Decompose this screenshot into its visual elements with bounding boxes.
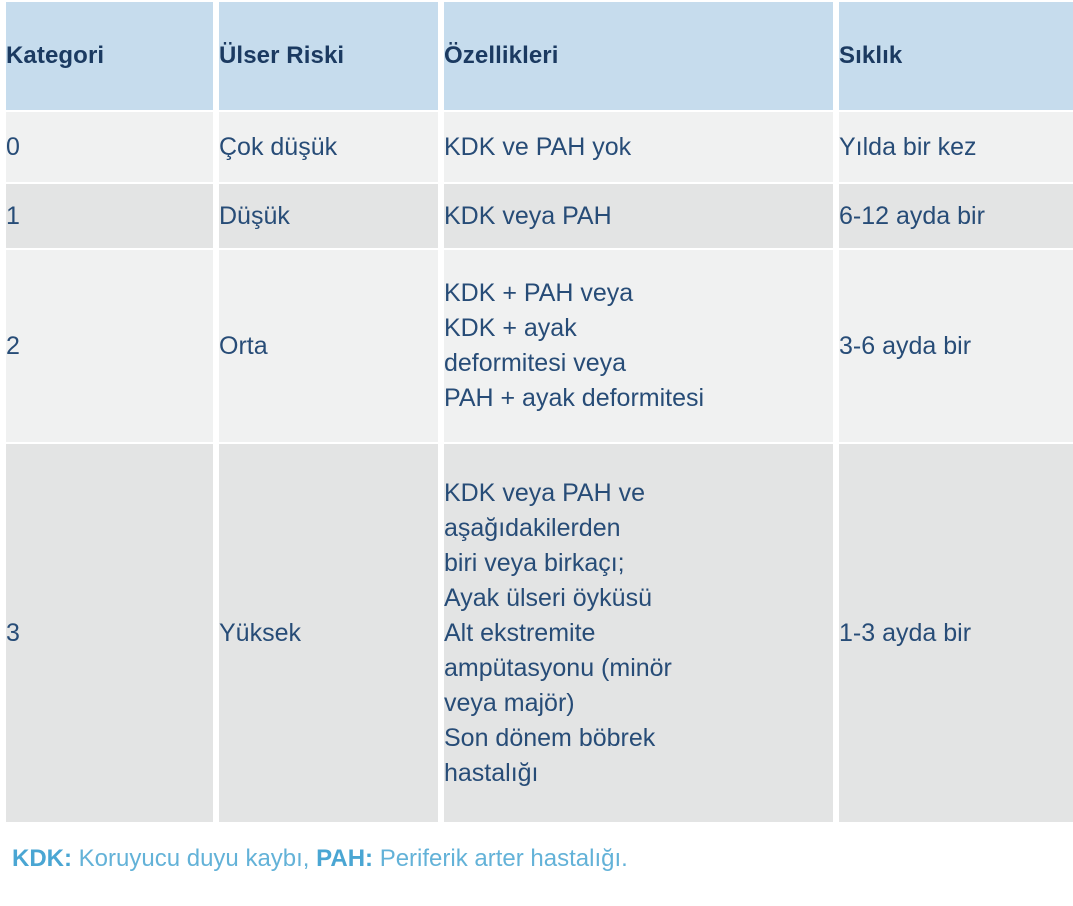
cell-text: 2: [6, 329, 213, 364]
table-row: 2 Orta KDK + PAH veya KDK + ayak deformi…: [6, 250, 1073, 442]
cell-text: Orta: [219, 329, 438, 364]
table-header-row: Kategori Ülser Riski Özellikleri Sıklık: [6, 2, 1073, 110]
table-row: 0 Çok düşük KDK ve PAH yok Yılda bir kez: [6, 112, 1073, 182]
cell-ozellikleri: KDK veya PAH: [444, 184, 833, 248]
cell-text: Yüksek: [219, 616, 438, 651]
cell-text: 3-6 ayda bir: [839, 329, 1073, 364]
cell-text: Yılda bir kez: [839, 130, 1073, 165]
cell-siklik: 1-3 ayda bir: [839, 444, 1073, 822]
cell-siklik: 3-6 ayda bir: [839, 250, 1073, 442]
cell-ulser-riski: Düşük: [219, 184, 438, 248]
cell-ozellikleri: KDK ve PAH yok: [444, 112, 833, 182]
cell-text: KDK ve PAH yok: [444, 130, 833, 165]
cell-kategori: 3: [6, 444, 213, 822]
column-header-ulser-riski: Ülser Riski: [219, 2, 438, 110]
cell-ozellikleri: KDK + PAH veya KDK + ayak deformitesi ve…: [444, 250, 833, 442]
cell-text: 3: [6, 616, 213, 651]
column-header-siklik: Sıklık: [839, 2, 1073, 110]
cell-text: 1: [6, 199, 213, 234]
cell-text: KDK + PAH veya KDK + ayak deformitesi ve…: [444, 276, 833, 416]
cell-ulser-riski: Yüksek: [219, 444, 438, 822]
cell-kategori: 0: [6, 112, 213, 182]
legend-text-pah: Periferik arter hastalığı.: [373, 845, 628, 872]
cell-ulser-riski: Çok düşük: [219, 112, 438, 182]
cell-siklik: Yılda bir kez: [839, 112, 1073, 182]
cell-kategori: 2: [6, 250, 213, 442]
legend-text-kdk: Koruyucu duyu kaybı,: [72, 845, 316, 872]
table-header: Kategori Ülser Riski Özellikleri Sıklık: [6, 2, 1073, 110]
legend-abbr-kdk: KDK:: [12, 845, 72, 872]
cell-kategori: 1: [6, 184, 213, 248]
abbreviation-legend: KDK: Koruyucu duyu kaybı, PAH: Periferik…: [12, 844, 1073, 874]
cell-text: KDK veya PAH ve aşağıdakilerden biri vey…: [444, 476, 833, 791]
table-row: 3 Yüksek KDK veya PAH ve aşağıdakilerden…: [6, 444, 1073, 822]
legend-abbr-pah: PAH:: [316, 845, 373, 872]
cell-text: 6-12 ayda bir: [839, 199, 1073, 234]
column-header-ozellikleri: Özellikleri: [444, 2, 833, 110]
table-row: 1 Düşük KDK veya PAH 6-12 ayda bir: [6, 184, 1073, 248]
cell-text: Düşük: [219, 199, 438, 234]
cell-ulser-riski: Orta: [219, 250, 438, 442]
cell-ozellikleri: KDK veya PAH ve aşağıdakilerden biri vey…: [444, 444, 833, 822]
cell-text: Çok düşük: [219, 130, 438, 165]
table-body: 0 Çok düşük KDK ve PAH yok Yılda bir kez…: [6, 112, 1073, 822]
cell-text: KDK veya PAH: [444, 199, 833, 234]
cell-text: 0: [6, 130, 213, 165]
cell-text: 1-3 ayda bir: [839, 616, 1073, 651]
column-header-kategori: Kategori: [6, 2, 213, 110]
risk-categories-table: Kategori Ülser Riski Özellikleri Sıklık …: [0, 0, 1073, 824]
cell-siklik: 6-12 ayda bir: [839, 184, 1073, 248]
